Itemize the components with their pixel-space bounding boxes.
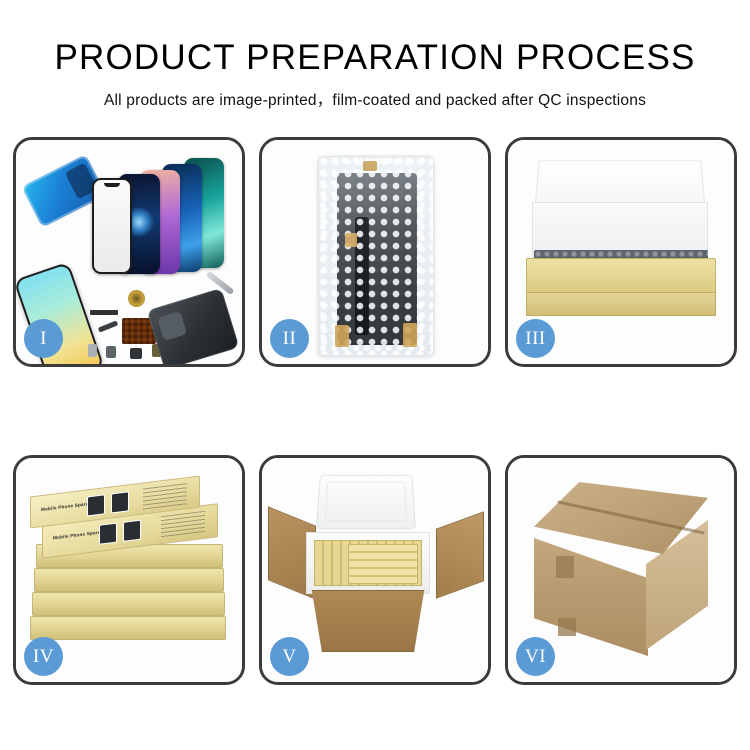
process-step-panel-1[interactable]: I — [13, 137, 245, 367]
step-badge-1: I — [24, 319, 63, 358]
process-step-panel-2[interactable]: II — [259, 137, 491, 367]
stacked-box-layer — [34, 568, 224, 592]
step-badge-2: II — [270, 319, 309, 358]
page-title: PRODUCT PREPARATION PROCESS — [0, 40, 750, 77]
kraft-tray-front-icon — [526, 292, 716, 316]
carton-front-icon — [304, 590, 432, 652]
carton-tape-icon — [558, 618, 576, 636]
phone-glass-panel-icon — [92, 178, 132, 274]
wrapped-screen-icon — [337, 173, 417, 345]
step-badge-5: V — [270, 637, 309, 676]
process-step-panel-3[interactable]: III — [505, 137, 737, 367]
screen-flex-cable-icon — [355, 217, 369, 335]
screen-graphic-icon — [111, 491, 129, 513]
packed-boxes-icon — [348, 544, 418, 584]
camera-ring-icon — [128, 290, 145, 307]
step-badge-4: IV — [24, 637, 63, 676]
carton-tape-icon — [556, 556, 574, 578]
stacked-box-layer — [32, 592, 225, 616]
tape-piece-icon — [335, 325, 349, 347]
stacked-box-layer — [30, 616, 226, 640]
page-header: PRODUCT PREPARATION PROCESS All products… — [0, 0, 750, 110]
tape-piece-icon — [403, 323, 417, 347]
screen-graphic-icon — [99, 523, 117, 545]
process-step-panel-6[interactable]: VI — [505, 455, 737, 685]
box-stack: Mobile Phone Spare Parts Mobile Phone Sp… — [28, 480, 236, 666]
tape-piece-icon — [345, 233, 357, 247]
bubble-wrap-package — [318, 156, 434, 356]
phone-screen-fan — [88, 154, 238, 284]
carton-left-face-icon — [534, 538, 648, 656]
process-step-panel-5[interactable]: V — [259, 455, 491, 685]
tape-piece-icon — [363, 161, 377, 171]
box-spec-lines — [143, 483, 187, 512]
speaker-component-icon — [130, 348, 142, 359]
screen-graphic-icon — [87, 494, 105, 516]
step-badge-6: VI — [516, 637, 555, 676]
carton-flap-right-icon — [436, 511, 484, 598]
box-spec-lines — [161, 511, 205, 540]
battery-connector-icon — [90, 310, 118, 315]
chip-component-icon — [106, 346, 116, 358]
flex-cable-icon — [98, 320, 118, 332]
step-badge-3: III — [516, 319, 555, 358]
page-subtitle: All products are image-printed，film-coat… — [0, 88, 750, 110]
foam-lid-icon — [316, 475, 416, 530]
sim-tray-icon — [88, 344, 97, 357]
process-step-panel-4[interactable]: Mobile Phone Spare Parts Mobile Phone Sp… — [13, 455, 245, 685]
process-step-grid: I II III — [13, 137, 737, 685]
screen-graphic-icon — [123, 520, 141, 542]
